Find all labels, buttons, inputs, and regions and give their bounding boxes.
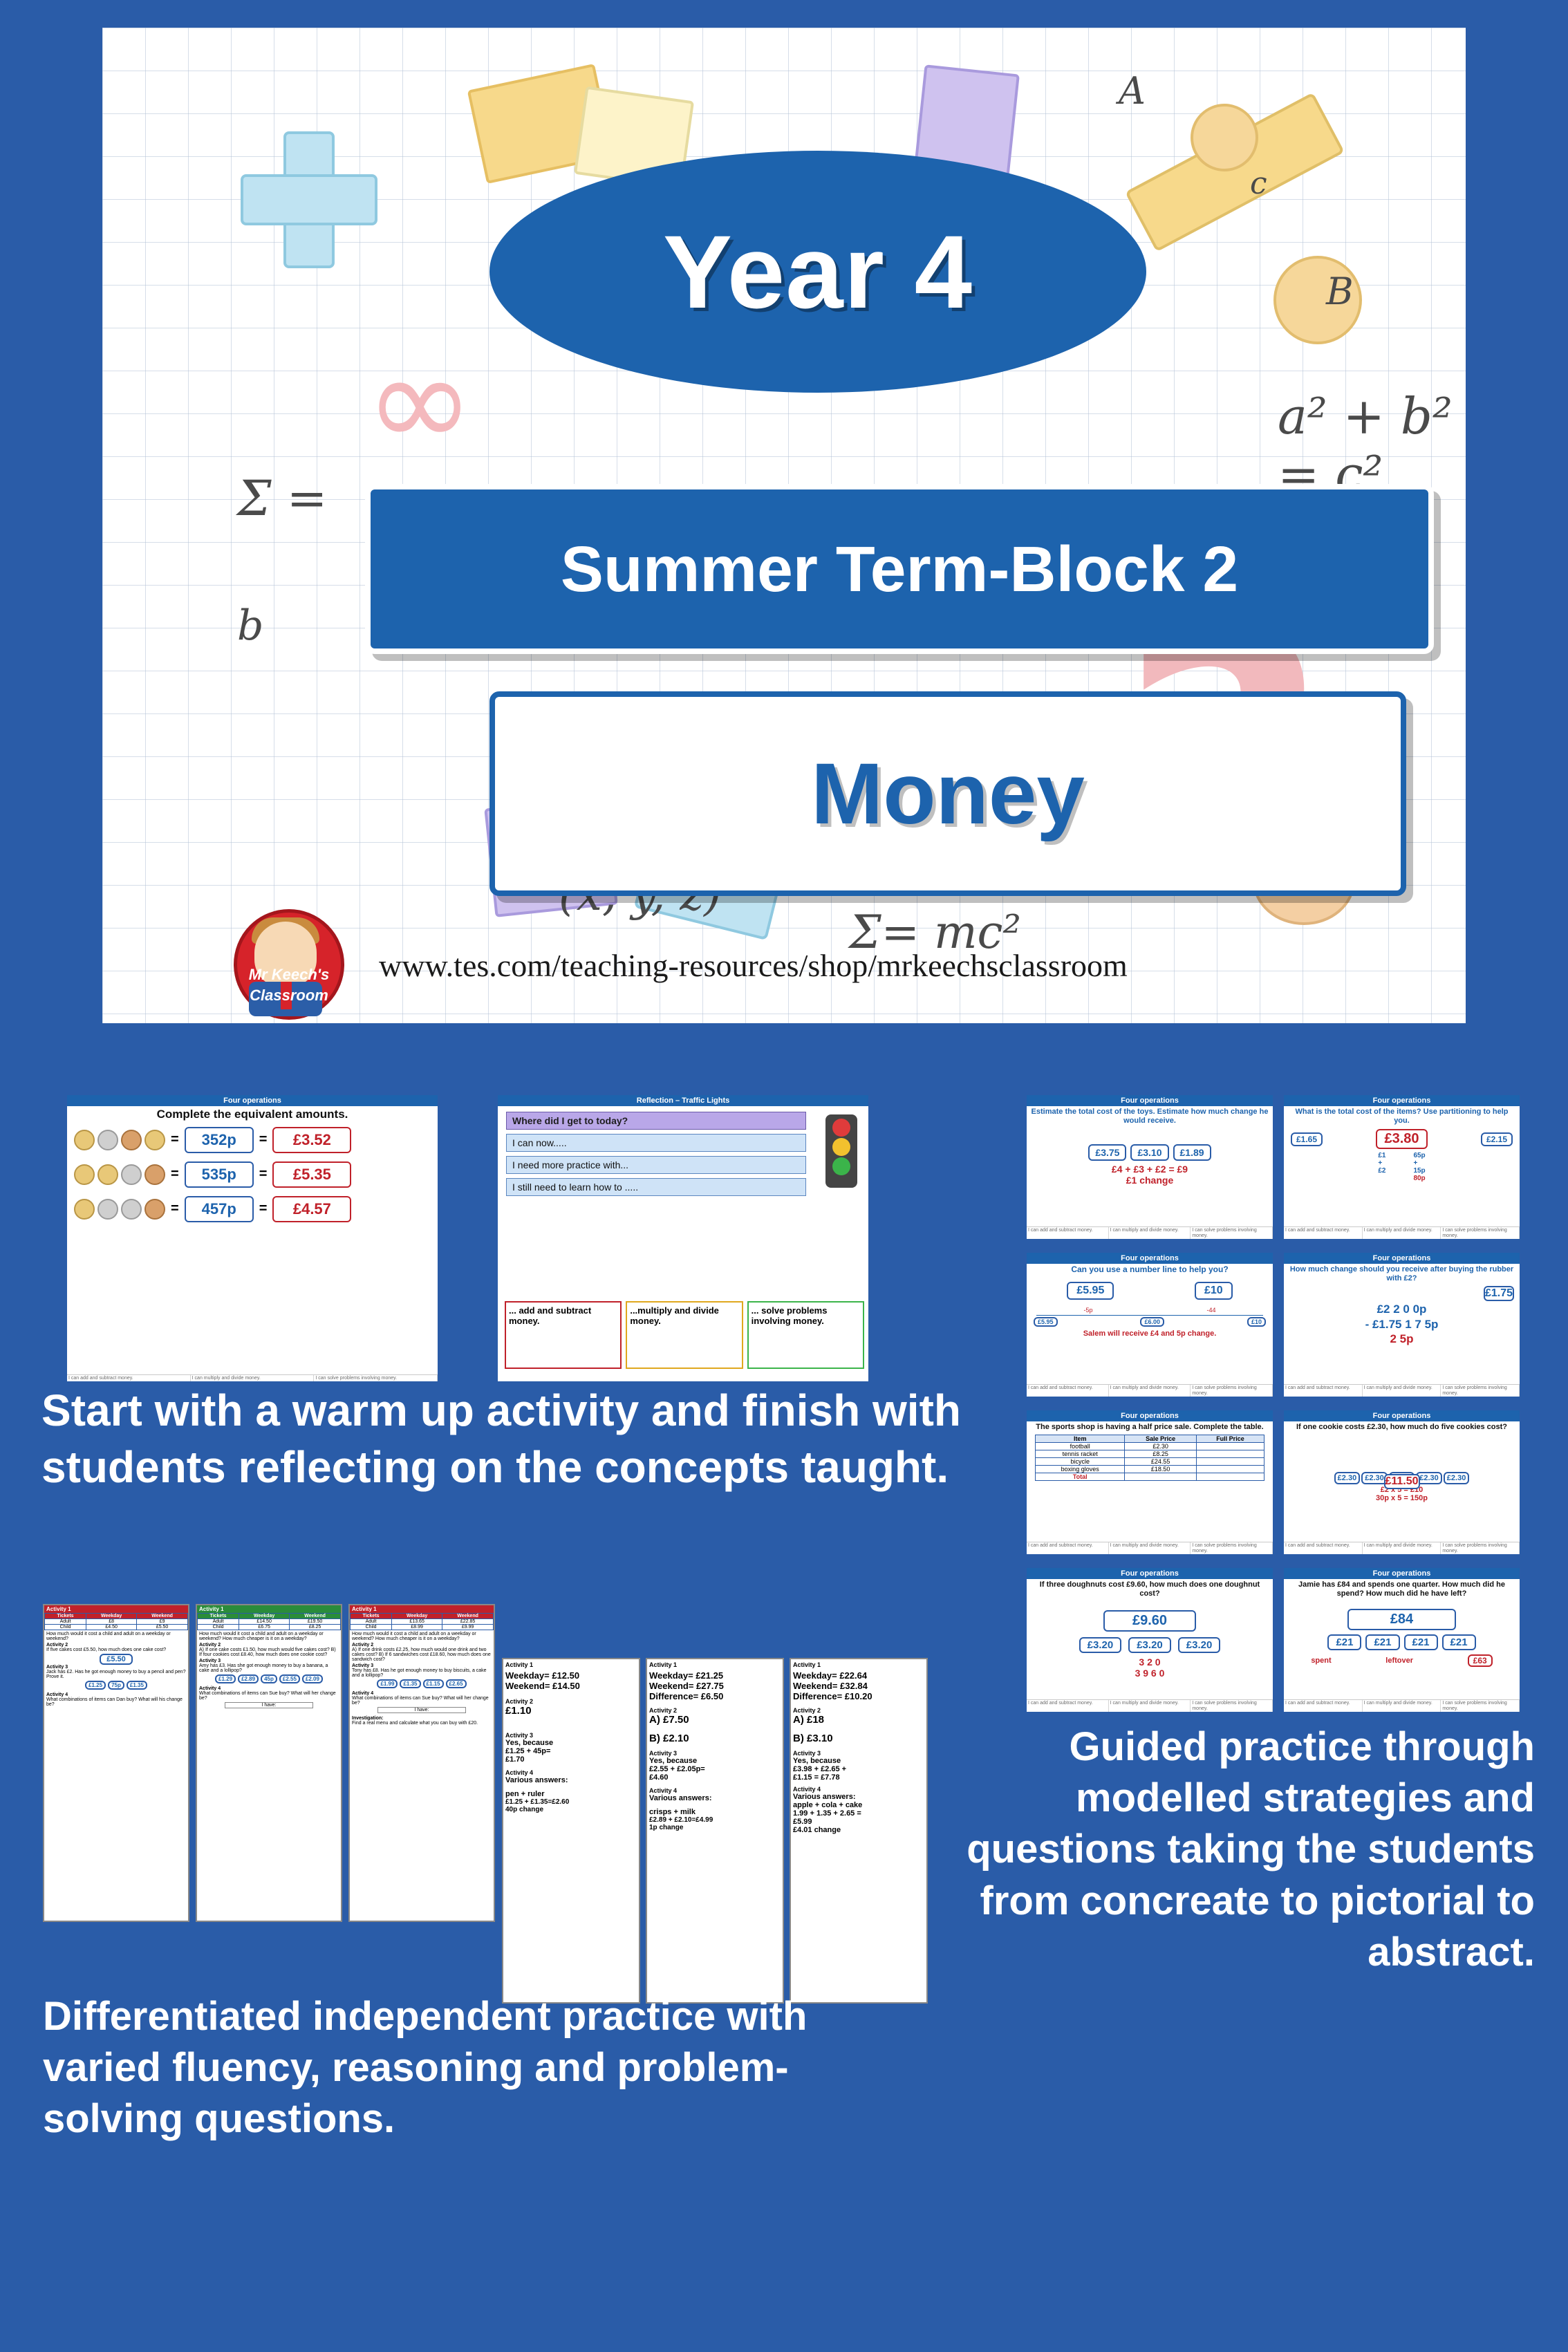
cell: £13.65	[392, 1619, 442, 1625]
objective-2: I can multiply and divide money.	[1363, 1227, 1441, 1239]
reflection-box-green: ... solve problems involving money.	[747, 1301, 864, 1369]
total-amount: £9.60	[1103, 1610, 1196, 1632]
slide-header: Four operations	[1284, 1095, 1520, 1106]
activity-2-label: Activity 2	[350, 1643, 494, 1648]
item-price: £1.25	[85, 1681, 106, 1690]
answer-line: Weekend= £32.84	[791, 1681, 926, 1691]
activity-2-label: Activity 2	[503, 1691, 639, 1705]
objective-1: I can add and subtract money.	[1284, 1385, 1363, 1397]
slide-subtitle: Estimate the total cost of the toys. Est…	[1027, 1106, 1273, 1126]
logo-line-1: Mr Keech's	[227, 966, 351, 984]
cell-sale: £18.50	[1125, 1465, 1197, 1473]
slide-guided-5[interactable]: Four operations The sports shop is havin…	[1025, 1409, 1274, 1556]
column-header: Weekend	[290, 1614, 341, 1619]
activity-3-text: Amy has £3. Has she got enough money to …	[197, 1663, 341, 1673]
activity-4-text: What combinations of items can Sue buy? …	[197, 1691, 341, 1701]
plus-icon	[241, 131, 372, 263]
cell: Adult	[198, 1619, 239, 1625]
slide-header: Four operations	[67, 1095, 438, 1106]
ruler-icon	[1125, 92, 1345, 252]
sigma-symbol: Σ =	[237, 470, 327, 527]
question-1: How much would it cost a child and adult…	[197, 1630, 341, 1643]
slide-subtitle: Complete the equivalent amounts.	[67, 1106, 438, 1123]
cell: £14.50	[239, 1619, 290, 1625]
brand-logo: Mr Keech's Classroom	[227, 909, 358, 1020]
slide-header: Four operations	[1284, 1253, 1520, 1264]
cookie-chip: £2.30	[1334, 1472, 1361, 1484]
item-price: £2.65	[446, 1679, 467, 1688]
leftover-label: leftover	[1385, 1656, 1413, 1665]
objectives-footer: I can add and subtract money. I can mult…	[1027, 1384, 1273, 1397]
reflection-box-red: ... add and subtract money.	[505, 1301, 622, 1369]
part-chip: £3.20	[1128, 1637, 1171, 1653]
answer-line: Various answers:	[503, 1776, 639, 1784]
slide-subtitle: Can you use a number line to help you?	[1027, 1264, 1273, 1276]
activity-3-label: Activity 3	[350, 1662, 494, 1668]
activity-title: Activity 1	[350, 1605, 494, 1613]
activity-4-label: Activity 4	[791, 1782, 926, 1793]
answer-line: £4.01 change	[791, 1826, 926, 1834]
equivalent-row: = 352p = £3.52	[67, 1123, 438, 1157]
answer-line: Weekend= £27.75	[647, 1681, 783, 1691]
slide-header: Four operations	[1027, 1253, 1273, 1264]
cell: £8.25	[290, 1625, 341, 1630]
coin-group	[74, 1130, 165, 1150]
activity-4-text: What combinations of items can Sue buy? …	[350, 1696, 494, 1706]
column-header: Tickets	[351, 1614, 392, 1619]
objective-2: I can multiply and divide money.	[1109, 1542, 1191, 1554]
partition-op: +	[1378, 1159, 1385, 1167]
item-price: £1.35	[127, 1681, 147, 1690]
table-row: Adult £13.65 £22.85	[351, 1619, 494, 1625]
cell: £9.99	[442, 1625, 494, 1630]
working-line: £4 + £3 + £2 = £9	[1027, 1164, 1273, 1175]
answers-3[interactable]: Activity 1 Weekday= £22.64 Weekend= £32.…	[790, 1658, 928, 2004]
cell: Child	[351, 1625, 392, 1630]
cell-sale: £8.25	[1125, 1450, 1197, 1457]
slide-header: Four operations	[1027, 1095, 1273, 1106]
objective-3: I can solve problems involving money.	[1191, 1700, 1273, 1712]
cell: £8.99	[392, 1625, 442, 1630]
question-1: How much would it cost a child and adult…	[44, 1630, 188, 1643]
activity-3-label: Activity 3	[647, 1744, 783, 1757]
answer-line: Difference= £6.50	[647, 1691, 783, 1701]
jump-label: -44	[1206, 1307, 1215, 1314]
slide-guided-6[interactable]: Four operations If one cookie costs £2.3…	[1282, 1409, 1521, 1556]
endpoint-label: £6.00	[1140, 1317, 1164, 1327]
partition-value: 15p	[1413, 1167, 1425, 1175]
objective-1: I can add and subtract money.	[1027, 1700, 1109, 1712]
activity-4-label: Activity 4	[503, 1764, 639, 1776]
objective-3: I can solve problems involving money.	[314, 1375, 438, 1381]
partition-value: £2	[1378, 1167, 1385, 1175]
table-row: Child £8.99 £9.99	[351, 1625, 494, 1630]
reflection-box-amber: ...multiply and divide money.	[626, 1301, 743, 1369]
partition-sum: 80p	[1413, 1175, 1425, 1182]
slide-guided-8[interactable]: Four operations Jamie has £84 and spends…	[1282, 1567, 1521, 1713]
objective-2: I can multiply and divide money.	[1109, 1700, 1191, 1712]
table-row: bicycle £24.55	[1036, 1457, 1264, 1465]
item-price: 75p	[108, 1681, 124, 1690]
activity-3-label: Activity 3	[44, 1665, 188, 1670]
equals-sign: =	[259, 1132, 268, 1148]
coin-group	[74, 1199, 165, 1220]
topic-title: Money	[811, 745, 1085, 843]
answer-line: £1.15 = £7.78	[791, 1773, 926, 1782]
answer-line: A) £7.50	[647, 1714, 783, 1726]
activity-4-label: Activity 4	[647, 1782, 783, 1794]
logo-line-2: Classroom	[227, 987, 351, 1005]
answer-line: Weekend= £14.50	[503, 1681, 639, 1691]
cell: £9	[137, 1619, 188, 1625]
total-answer: £3.80	[1376, 1129, 1427, 1149]
working-line: 30p x 5 = 150p	[1284, 1494, 1520, 1502]
worksheet-2[interactable]: Activity 1 Tickets Weekday Weekend Adult…	[196, 1604, 342, 1922]
objective-1: I can add and subtract money.	[1027, 1542, 1109, 1554]
slide-guided-4[interactable]: Four operations How much change should y…	[1282, 1251, 1521, 1398]
slide-header: Four operations	[1027, 1568, 1273, 1579]
cell-full	[1196, 1450, 1264, 1457]
objectives-footer: I can add and subtract money. I can mult…	[1027, 1542, 1273, 1554]
slide-guided-1[interactable]: Four operations Estimate the total cost …	[1025, 1094, 1274, 1240]
answer-line: crisps + milk	[647, 1802, 783, 1816]
price-tag: £3.75	[1088, 1144, 1126, 1161]
slide-subtitle: The sports shop is having a half price s…	[1027, 1421, 1273, 1433]
column-header: Weekday	[392, 1614, 442, 1619]
ball-icon	[1191, 104, 1258, 171]
reflection-line-3: I still need to learn how to .....	[506, 1178, 806, 1196]
pence-value: 457p	[185, 1196, 254, 1222]
answer-line: £1.70	[503, 1755, 639, 1764]
table-row: Adult £8 £9	[45, 1619, 188, 1625]
column-header: Tickets	[198, 1614, 239, 1619]
answer-line: pen + ruler	[503, 1784, 639, 1798]
total-answer: £11.50	[1383, 1474, 1419, 1489]
equals-sign: =	[259, 1201, 268, 1217]
activity-4-label: Activity 4	[197, 1683, 341, 1691]
objective-1: I can add and subtract money.	[1027, 1227, 1109, 1239]
column-header: Sale Price	[1125, 1435, 1197, 1442]
infinity-icon: ∞	[365, 325, 474, 478]
column-header: Weekday	[86, 1614, 137, 1619]
division-quotient: 3 2 0	[1027, 1657, 1273, 1668]
objective-1: I can add and subtract money.	[1027, 1385, 1109, 1397]
objectives-footer: I can add and subtract money. I can mult…	[1284, 1542, 1520, 1554]
traffic-light-icon	[825, 1114, 857, 1188]
objective-2: I can multiply and divide money.	[1109, 1227, 1191, 1239]
letter-b: b	[237, 601, 263, 650]
answer-line: £5.99	[791, 1818, 926, 1826]
table-row: Child £6.75 £8.25	[198, 1625, 341, 1630]
objectives-footer: I can add and subtract money. I can mult…	[1027, 1226, 1273, 1239]
part-chip: £21	[1404, 1634, 1438, 1650]
answer-line: 1.99 + 1.35 + 2.65 =	[791, 1809, 926, 1818]
partition-op: +	[1413, 1159, 1425, 1167]
equals-sign: =	[171, 1132, 179, 1148]
answer-line: 1p change	[647, 1824, 783, 1831]
objectives-footer: I can add and subtract money. I can mult…	[1284, 1699, 1520, 1712]
activity-title: Activity 1	[197, 1605, 341, 1613]
activity-1-label: Activity 1	[791, 1659, 926, 1670]
slide-header: Four operations	[1284, 1568, 1520, 1579]
objectives-footer: I can add and subtract money. I can mult…	[1284, 1384, 1520, 1397]
objective-3: I can solve problems involving money.	[1441, 1227, 1520, 1239]
answer-line: £1.25 + £1.35=£2.60	[503, 1798, 639, 1806]
topic-box: Money	[489, 691, 1406, 896]
partition-value: 65p	[1413, 1152, 1425, 1159]
answer-line: £2.89 + £2.10=£4.99	[647, 1816, 783, 1824]
working-line: £1 change	[1027, 1175, 1273, 1186]
objectives-footer: I can add and subtract money. I can mult…	[67, 1374, 438, 1381]
objectives-footer: I can add and subtract money. I can mult…	[1284, 1226, 1520, 1239]
cell: £8	[86, 1619, 137, 1625]
part-chip: £21	[1327, 1634, 1361, 1650]
activity-3-label: Activity 3	[791, 1744, 926, 1757]
activity-2-label: Activity 2	[197, 1643, 341, 1648]
partition-left: £1 + £2	[1378, 1152, 1385, 1182]
objective-3: I can solve problems involving money.	[1191, 1385, 1273, 1397]
caption-left: Differentiated independent practice with…	[43, 1991, 859, 2145]
cell: Child	[45, 1625, 86, 1630]
activity-2-label: Activity 2	[44, 1643, 188, 1648]
cell: £19.50	[290, 1619, 341, 1625]
part-chip: £21	[1442, 1634, 1476, 1650]
worksheet-3[interactable]: Activity 1 Tickets Weekday Weekend Adult…	[348, 1604, 495, 1922]
answer-line: Weekday= £21.25	[647, 1670, 783, 1681]
item-price: £1.15	[423, 1679, 444, 1688]
answer-line: Salem will receive £4 and 5p change.	[1027, 1329, 1273, 1338]
column-header: Weekday	[239, 1614, 290, 1619]
answer-line: Yes, because	[647, 1757, 783, 1765]
cell-item: bicycle	[1036, 1457, 1125, 1465]
sticky-note-icon	[467, 64, 615, 184]
objective-1: I can add and subtract money.	[1284, 1700, 1363, 1712]
activity-2-text: A) If one cake costs £1.50, how much wou…	[197, 1648, 341, 1657]
reflection-line-1: I can now.....	[506, 1134, 806, 1152]
slide-subtitle: How much change should you receive after…	[1284, 1264, 1520, 1284]
price-tag: £1.75	[1484, 1286, 1514, 1301]
amount-chip: £10	[1195, 1282, 1233, 1300]
activity-4-label: Activity 4	[350, 1688, 494, 1696]
cell-full	[1196, 1457, 1264, 1465]
equals-sign: =	[171, 1166, 179, 1182]
cell: £6.75	[239, 1625, 290, 1630]
column-header: Weekend	[442, 1614, 494, 1619]
price-tag: £1.89	[1173, 1144, 1211, 1161]
pounds-value: £4.57	[272, 1196, 351, 1222]
equals-sign: =	[171, 1201, 179, 1217]
term-title: Summer Term-Block 2	[561, 532, 1238, 606]
answer-line: £1.10	[503, 1705, 639, 1717]
pence-value: 352p	[185, 1127, 254, 1153]
cell-full	[1196, 1442, 1264, 1450]
table-row: tennis racket £8.25	[1036, 1450, 1264, 1457]
table-row: Child £4.50 £5.50	[45, 1625, 188, 1630]
column-header: Full Price	[1196, 1435, 1264, 1442]
triangle-label-a: A	[1119, 69, 1146, 113]
item-price: £1.29	[215, 1674, 236, 1683]
answer-line: Various answers:	[647, 1794, 783, 1802]
answers-2[interactable]: Activity 1 Weekday= £21.25 Weekend= £27.…	[646, 1658, 784, 2004]
year-badge: Year 4	[489, 151, 1146, 393]
cell-sale	[1125, 1473, 1197, 1480]
cell-item: boxing gloves	[1036, 1465, 1125, 1473]
reflection-line-2: I need more practice with...	[506, 1156, 806, 1174]
reflection-question: Where did I get to today?	[506, 1112, 806, 1130]
activity-3-text: Tony has £8. Has he got enough money to …	[350, 1668, 494, 1678]
activity-2-text: A) If one drink costs £2.25, how much wo…	[350, 1648, 494, 1662]
item-price: £2.09	[302, 1674, 323, 1683]
activity-2-label: Activity 2	[791, 1701, 926, 1714]
investigation-text: Find a real menu and calculate what you …	[350, 1721, 494, 1726]
equivalent-row: = 535p = £5.35	[67, 1157, 438, 1192]
cookie-chip: £2.30	[1444, 1472, 1470, 1484]
item-price: 45p	[261, 1674, 277, 1683]
cell-full	[1196, 1473, 1264, 1480]
objective-2: I can multiply and divide money.	[1363, 1385, 1441, 1397]
cell-sale: £2.30	[1125, 1442, 1197, 1450]
cell: £4.50	[86, 1625, 137, 1630]
objective-1: I can add and subtract money.	[67, 1375, 191, 1381]
objective-3: I can solve problems involving money.	[1441, 1700, 1520, 1712]
endpoint-label: £5.95	[1034, 1317, 1058, 1327]
sale-price-table: Item Sale Price Full Price football £2.3…	[1035, 1435, 1264, 1481]
cell-full	[1196, 1465, 1264, 1473]
answer-line: 40p change	[503, 1806, 639, 1813]
endpoint-label: £10	[1247, 1317, 1266, 1327]
total-amount: £84	[1347, 1609, 1456, 1630]
worksheet-1[interactable]: Activity 1 Tickets Weekday Weekend Adult…	[43, 1604, 189, 1922]
cell: Child	[198, 1625, 239, 1630]
item-price: £2.89	[238, 1674, 259, 1683]
column-header: Tickets	[45, 1614, 86, 1619]
item-price: £2.55	[279, 1674, 300, 1683]
i-have-note: I have:	[377, 1707, 466, 1713]
cell-total: Total	[1036, 1473, 1125, 1480]
cookie-chip: £2.30	[1416, 1472, 1442, 1484]
slide-guided-2[interactable]: Four operations What is the total cost o…	[1282, 1094, 1521, 1240]
activity-3-label: Activity 3	[197, 1657, 341, 1663]
year-title: Year 4	[663, 212, 973, 332]
objective-2: I can multiply and divide money.	[1363, 1542, 1441, 1554]
cell: Adult	[45, 1619, 86, 1625]
item-price: £1.99	[377, 1679, 398, 1688]
answer-line: B) £2.10	[647, 1726, 783, 1744]
activity-1-label: Activity 1	[503, 1659, 639, 1670]
slide-guided-7[interactable]: Four operations If three doughnuts cost …	[1025, 1567, 1274, 1713]
division-bus-stop: 3 9 6 0	[1027, 1668, 1273, 1679]
price-tag: £1.65	[1291, 1132, 1323, 1146]
activity-1-label: Activity 1	[647, 1659, 783, 1670]
shop-url: www.tes.com/teaching-resources/shop/mrke…	[379, 947, 1128, 984]
activity-3-label: Activity 3	[503, 1717, 639, 1739]
caption-right: Guided practice through modelled strateg…	[920, 1721, 1535, 1978]
equivalent-row: = 457p = £4.57	[67, 1192, 438, 1226]
calc-line: £2 2 0 0p	[1284, 1302, 1520, 1316]
jump-label: -5p	[1083, 1307, 1092, 1314]
calc-line: - £1.75 1 7 5p	[1284, 1317, 1520, 1332]
term-band: Summer Term-Block 2	[365, 484, 1434, 654]
item-price: £1.35	[400, 1679, 420, 1688]
spent-label: spent	[1311, 1656, 1331, 1665]
activity-3-text: Jack has £2. Has he got enough money to …	[44, 1670, 188, 1679]
leftover-amount: £63	[1468, 1654, 1493, 1667]
column-header: Weekend	[137, 1614, 188, 1619]
answer-line: A) £18	[791, 1714, 926, 1726]
objective-1: I can add and subtract money.	[1284, 1542, 1363, 1554]
slide-warmup[interactable]: Four operations Complete the equivalent …	[66, 1094, 439, 1383]
answer-line: £3.98 + £2.65 +	[791, 1765, 926, 1773]
answer-line: £1.25 + 45p=	[503, 1747, 639, 1755]
calc-answer: 2 5p	[1284, 1332, 1520, 1346]
answer-line: Difference= £10.20	[791, 1691, 926, 1701]
slide-header: Four operations	[1027, 1410, 1273, 1421]
objective-3: I can solve problems involving money.	[1441, 1542, 1520, 1554]
slide-header: Reflection – Traffic Lights	[498, 1095, 868, 1106]
activity-4-label: Activity 4	[44, 1690, 188, 1697]
pence-value: 535p	[185, 1161, 254, 1188]
slide-subtitle: If three doughnuts cost £9.60, how much …	[1027, 1579, 1273, 1599]
answer-line: Yes, because	[791, 1757, 926, 1765]
answer-line: Weekday= £22.64	[791, 1670, 926, 1681]
slide-subtitle: Jamie has £84 and spends one quarter. Ho…	[1284, 1579, 1520, 1599]
activity-2-text: If five cakes cost £5.50, how much does …	[44, 1648, 188, 1652]
answers-1[interactable]: Activity 1 Weekday= £12.50 Weekend= £14.…	[502, 1658, 640, 2004]
slide-header: Four operations	[1284, 1410, 1520, 1421]
pounds-value: £5.35	[272, 1161, 351, 1188]
i-have-note: I have:	[225, 1702, 313, 1708]
answer-line: Yes, because	[503, 1739, 639, 1747]
answer-line: apple + cola + cake	[791, 1801, 926, 1809]
investigation-label: Investigation:	[350, 1715, 494, 1721]
equals-sign: =	[259, 1166, 268, 1182]
answer-line: B) £3.10	[791, 1726, 926, 1744]
cell: £5.50	[137, 1625, 188, 1630]
cell-sale: £24.55	[1125, 1457, 1197, 1465]
table-row: Adult £14.50 £19.50	[198, 1619, 341, 1625]
hero-banner: ∞ ? A c B a² + b² = c² Σ = b (x, y, z) Σ…	[102, 28, 1466, 1023]
triangle-label-c: c	[1250, 166, 1267, 201]
slide-reflection[interactable]: Reflection – Traffic Lights Where did I …	[496, 1094, 870, 1383]
objective-2: I can multiply and divide money.	[1109, 1385, 1191, 1397]
cell: Adult	[351, 1619, 392, 1625]
amount-chip: £5.95	[1067, 1282, 1114, 1300]
table-row: football £2.30	[1036, 1442, 1264, 1450]
part-chip: £3.20	[1178, 1637, 1221, 1653]
slide-guided-3[interactable]: Four operations Can you use a number lin…	[1025, 1251, 1274, 1398]
objective-2: I can multiply and divide money.	[1363, 1700, 1441, 1712]
table-row: Total	[1036, 1473, 1264, 1480]
slide-subtitle: What is the total cost of the items? Use…	[1284, 1106, 1520, 1126]
objective-3: I can solve problems involving money.	[1441, 1385, 1520, 1397]
coin-group	[74, 1164, 165, 1185]
answer-line: Various answers:	[791, 1793, 926, 1801]
activity-2-answer: £5.50	[100, 1654, 133, 1665]
question-1: How much would it cost a child and adult…	[350, 1630, 494, 1643]
activity-2-label: Activity 2	[647, 1701, 783, 1714]
objectives-footer: I can add and subtract money. I can mult…	[1027, 1699, 1273, 1712]
objective-1: I can add and subtract money.	[1284, 1227, 1363, 1239]
part-chip: £3.20	[1079, 1637, 1122, 1653]
caption-top: Start with a warm up activity and finish…	[41, 1383, 982, 1496]
column-header: Item	[1036, 1435, 1125, 1442]
answer-line: Weekday= £12.50	[503, 1670, 639, 1681]
partition-value: £1	[1378, 1152, 1385, 1159]
price-tag: £2.15	[1481, 1132, 1513, 1146]
part-chip: £21	[1365, 1634, 1399, 1650]
cell: £22.85	[442, 1619, 494, 1625]
answer-line: £2.55 + £2.05p=	[647, 1765, 783, 1773]
